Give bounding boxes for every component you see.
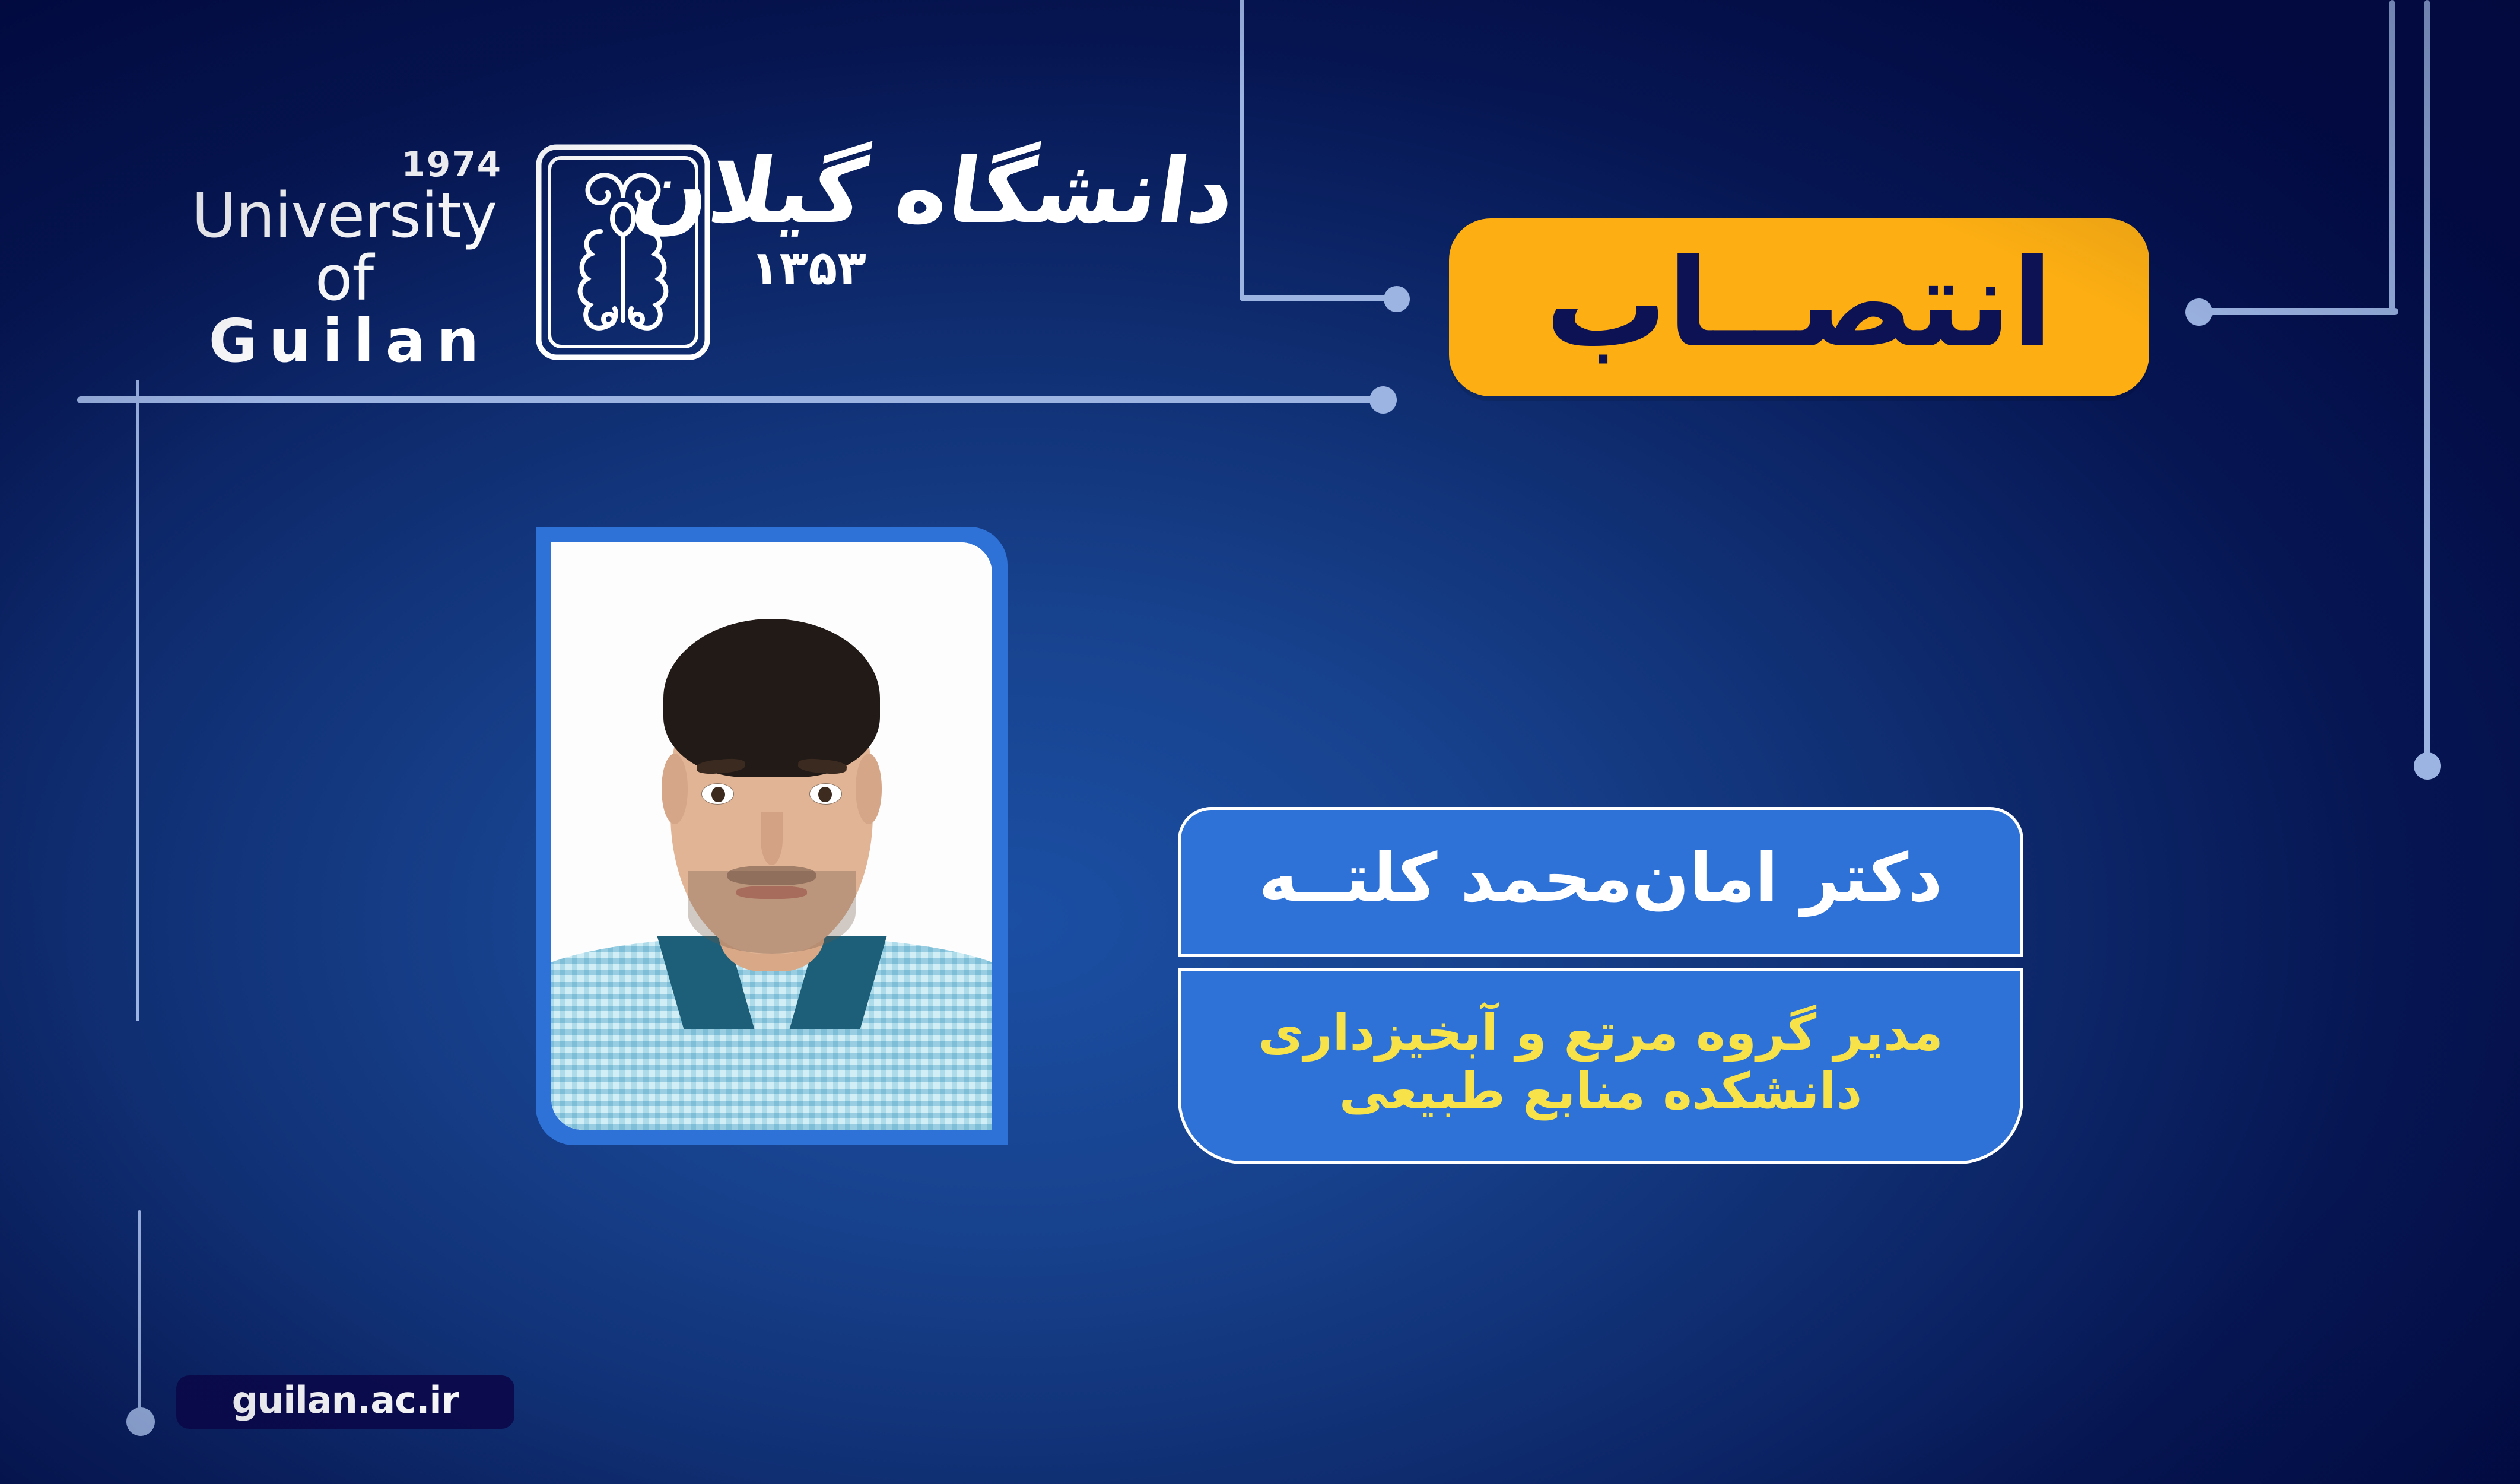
decor-dot-mid [1384,286,1410,312]
logo-persian-name: دانشگاه گیلان [627,147,1240,236]
website-url-pill[interactable]: guilan.ac.ir [176,1375,514,1429]
headline-badge: انتصــاب [1449,218,2149,396]
logo-english-wordmark: 1974 University of Guilan [178,147,510,372]
decor-line-right-vertical-long [2424,0,2430,762]
decor-line-left-horizontal [77,396,1383,403]
person-name: دکتر امان‌محمد کلتــه [1259,845,1942,911]
person-title-line-2: دانشکده منابع طبیعی [1339,1062,1862,1121]
logo-founding-year-en: 1974 [178,147,510,182]
logo-line-guilan: Guilan [178,310,510,372]
decor-line-right-vertical-short [2389,0,2395,312]
decor-line-right-horizontal [2208,308,2398,315]
portrait-photo-frame [536,527,1008,1145]
appointment-banner: 1974 University of Guilan [0,0,2520,1484]
person-name-badge: دکتر امان‌محمد کلتــه [1178,807,2023,957]
portrait-photo [551,542,992,1130]
logo-founding-year-fa: ۱۳۵۳ [751,240,866,295]
logo-line-university-of: University of [178,184,510,310]
decor-line-mid-horizontal [1240,295,1400,301]
decor-dot-right-vertical-end [2414,752,2441,780]
decor-dot-left-horizontal-end [1369,386,1397,414]
logo-persian-wordmark: دانشگاه گیلان ۱۳۵۳ [700,136,1234,374]
person-title-line-1: مدیر گروه مرتع و آبخیزداری [1258,1003,1943,1062]
person-title-badge: مدیر گروه مرتع و آبخیزداری دانشکده منابع… [1178,968,2023,1164]
decor-line-bottom-left-vertical [138,1210,141,1415]
university-logo: 1974 University of Guilan [178,136,1258,386]
decor-line-left-vertical-top [136,380,139,1021]
headline-label: انتصــاب [1545,243,2053,365]
decor-dot-bottom-left [126,1407,155,1436]
website-url: guilan.ac.ir [232,1382,459,1419]
